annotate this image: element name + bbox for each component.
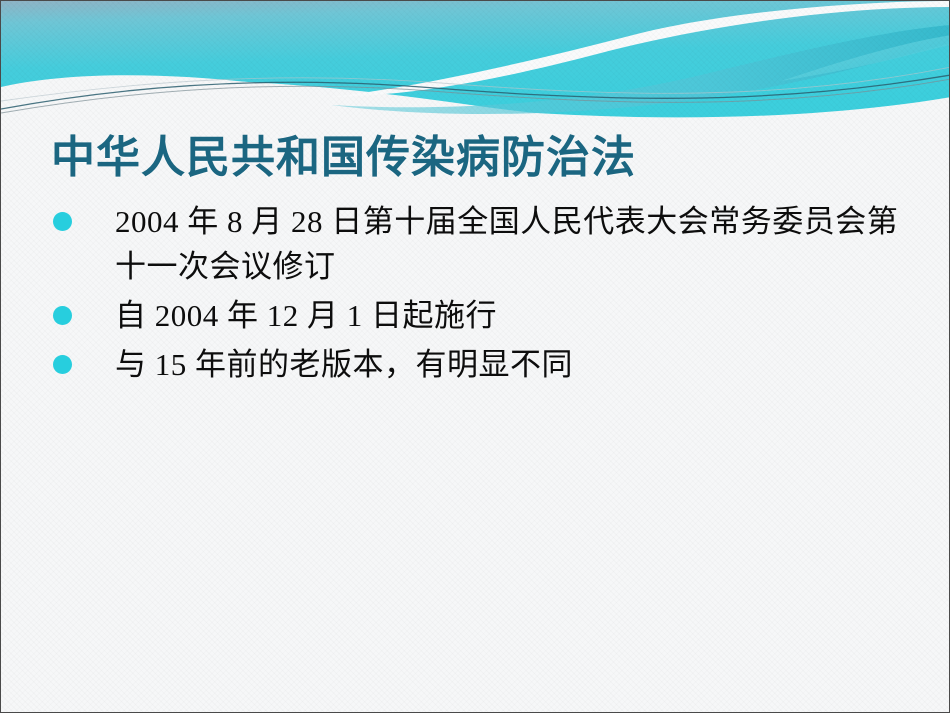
bullet-text: 2004 年 8 月 28 日第十届全国人民代表大会常务委员会第十一次会议修订 [115,199,909,289]
bullet-dot-icon [53,293,115,325]
list-item: 与 15 年前的老版本，有明显不同 [53,342,909,387]
bullet-dot-icon [53,342,115,374]
banner-swoosh-graphic [1,1,950,136]
slide-body: 2004 年 8 月 28 日第十届全国人民代表大会常务委员会第十一次会议修订 … [53,199,909,391]
bullet-text: 与 15 年前的老版本，有明显不同 [115,342,909,387]
list-item: 2004 年 8 月 28 日第十届全国人民代表大会常务委员会第十一次会议修订 [53,199,909,289]
bullet-dot-icon [53,199,115,231]
presentation-slide: 中华人民共和国传染病防治法 2004 年 8 月 28 日第十届全国人民代表大会… [0,0,950,713]
bullet-text: 自 2004 年 12 月 1 日起施行 [115,293,909,338]
slide-title: 中华人民共和国传染病防治法 [51,129,636,187]
list-item: 自 2004 年 12 月 1 日起施行 [53,293,909,338]
decorative-banner [1,1,950,136]
